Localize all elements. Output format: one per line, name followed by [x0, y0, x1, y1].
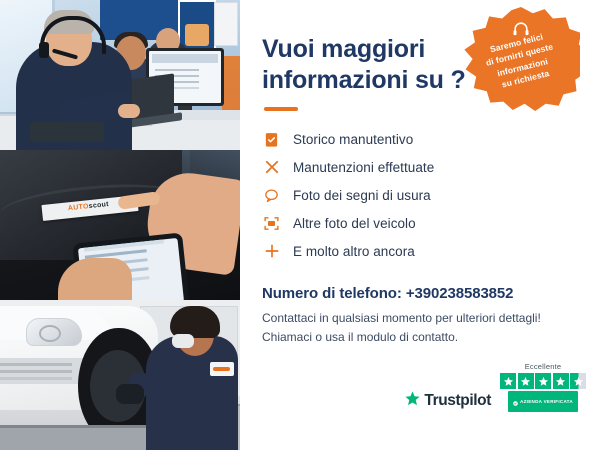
- trustpilot-wordmark: Trustpilot: [424, 392, 491, 410]
- car-headlight: [26, 318, 82, 346]
- speech-bubble-icon: [262, 186, 281, 205]
- trustpilot-rating[interactable]: Trustpilot Eccellente AZIENDA VERIFICATA: [404, 362, 586, 412]
- badge-text: Saremo felici di fornirti queste informa…: [465, 25, 578, 98]
- page-title: Vuoi maggiori informazioni su ?: [262, 34, 472, 95]
- call-center-agents-photo: [0, 0, 240, 150]
- star-filled: [535, 373, 551, 389]
- info-panel: Vuoi maggiori informazioni su ? Storico …: [240, 0, 600, 450]
- headline-line-2: informazioni su ?: [262, 66, 466, 94]
- subtext-line-2: Chiamaci o usa il modulo di contatto.: [262, 328, 600, 347]
- star-rating: [500, 373, 586, 389]
- verified-label: AZIENDA VERIFICATA: [520, 399, 573, 404]
- feature-label: Altre foto del veicolo: [293, 216, 416, 231]
- trustpilot-logo: Trustpilot: [404, 390, 491, 412]
- star-filled: [553, 373, 569, 389]
- vehicle-inspection-sticker-photo: AUTOscout: [0, 150, 240, 300]
- plus-icon: [262, 242, 281, 261]
- feature-item-much-more: E molto altro ancora: [262, 237, 600, 265]
- photo-gallery-column: AUTOscout: [0, 0, 240, 450]
- feature-label: Storico manutentivo: [293, 132, 413, 147]
- feature-label: Manutenzioni effettuate: [293, 160, 434, 175]
- uniform-logo: [210, 362, 234, 376]
- phone-label: Numero di telefono:: [262, 285, 402, 302]
- vehicle-lift-platform: [0, 425, 160, 450]
- star-filled: [500, 373, 516, 389]
- desk-tablet: [30, 122, 104, 142]
- feature-list: Storico manutentivo Manutenzioni effettu…: [262, 125, 600, 265]
- feature-item-maintenance-done: Manutenzioni effettuate: [262, 153, 600, 181]
- wall-poster: [178, 0, 216, 52]
- technician-hand-lower: [58, 258, 132, 300]
- phone-block: Numero di telefono: +390238583852 Contat…: [262, 285, 600, 346]
- clipboard-check-icon: [262, 130, 281, 149]
- photo-scan-icon: [262, 214, 281, 233]
- rating-label: Eccellente: [525, 362, 562, 371]
- promo-contact-panel: AUTOscout Vuoi maggior: [0, 0, 600, 450]
- feature-label: Foto dei segni di usura: [293, 188, 431, 203]
- car-grille: [0, 358, 86, 384]
- sticker-brand-suffix: scout: [88, 201, 109, 210]
- check-circle-icon: [513, 393, 518, 411]
- subtext-line-1: Contattaci in qualsiasi momento per ulte…: [262, 309, 600, 328]
- feature-label: E molto altro ancora: [293, 244, 415, 259]
- verified-business-badge: AZIENDA VERIFICATA: [508, 391, 578, 412]
- sticker-brand-prefix: AUTO: [68, 203, 90, 212]
- feature-item-maintenance-history: Storico manutentivo: [262, 125, 600, 153]
- tools-cross-icon: [262, 158, 281, 177]
- mechanic-wheel-check-photo: [0, 300, 240, 450]
- trustpilot-star-icon: [404, 390, 421, 412]
- face-mask: [172, 334, 194, 348]
- star-filled: [518, 373, 534, 389]
- work-glove: [116, 384, 144, 404]
- headline-line-1: Vuoi maggiori: [262, 35, 425, 63]
- feature-item-wear-photos: Foto dei segni di usura: [262, 181, 600, 209]
- feature-item-more-photos: Altre foto del veicolo: [262, 209, 600, 237]
- foreground-agent-hand: [118, 104, 140, 118]
- wall-poster-secondary: [214, 2, 238, 46]
- title-underline-rule: [264, 107, 298, 111]
- trustpilot-score: Eccellente AZIENDA VERIFICATA: [500, 362, 586, 412]
- star-half: [570, 373, 586, 389]
- phone-number[interactable]: +390238583852: [406, 285, 514, 302]
- phone-line: Numero di telefono: +390238583852: [262, 285, 600, 302]
- contact-subtext: Contattaci in qualsiasi momento per ulte…: [262, 309, 600, 346]
- request-info-badge: Saremo felici di fornirti queste informa…: [462, 7, 580, 111]
